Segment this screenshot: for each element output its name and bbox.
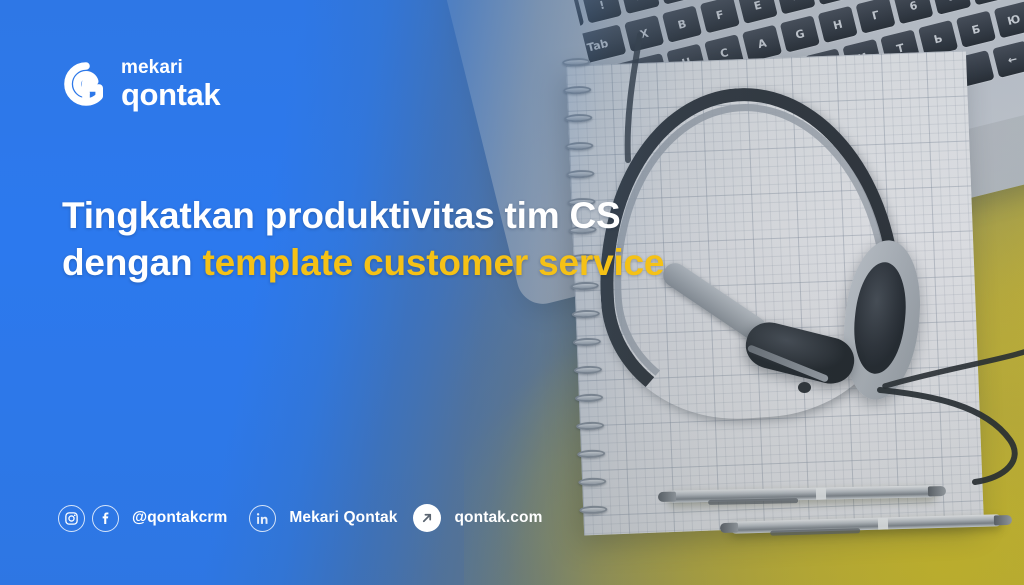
headline-line-1: Tingkatkan produktivitas tim CS — [62, 195, 621, 236]
social-handle[interactable]: @qontakcrm — [132, 509, 227, 527]
logo-text-mekari: mekari — [121, 58, 220, 77]
qontak-q-mark-icon — [64, 62, 108, 106]
brand-logo[interactable]: mekari qontak — [64, 58, 220, 110]
marketing-banner: ~ ! Z Я D K T E 7 8 9 ⌫ Tab Х B F E У . — [0, 0, 1024, 585]
headline: Tingkatkan produktivitas tim CS dengan t… — [62, 192, 802, 287]
linkedin-page-name[interactable]: Mekari Qontak — [289, 509, 397, 527]
headline-line-2-accent: template customer service — [202, 242, 664, 283]
footer-social-bar: @qontakcrm Mekari Qontak qontak.com — [58, 503, 542, 533]
website-url[interactable]: qontak.com — [454, 509, 542, 527]
banner-content: mekari qontak Tingkatkan produktivitas t… — [0, 0, 1024, 585]
linkedin-icon[interactable] — [249, 505, 276, 532]
logo-text-qontak: qontak — [121, 79, 220, 110]
instagram-icon[interactable] — [58, 505, 85, 532]
headline-line-2-plain: dengan — [62, 242, 202, 283]
facebook-icon[interactable] — [92, 505, 119, 532]
arrow-up-right-icon[interactable] — [413, 504, 441, 532]
